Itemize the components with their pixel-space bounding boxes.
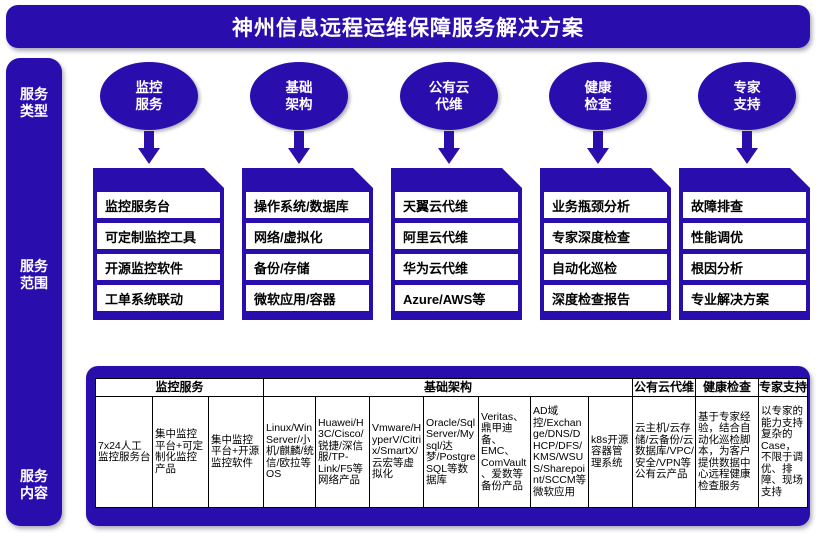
service-scope-item: 根因分析 [683,254,806,280]
service-type-ellipse-infrastructure-line2: 架构 [286,96,313,113]
sidebar-item-service-content-line1: 服务 [6,468,62,485]
table-cell: 以专家的能力支持复杂的Case，不限于调优、排障、现场支持 [759,397,808,508]
service-scope-item: 业务瓶颈分析 [544,192,667,218]
service-type-ellipse-monitoring: 监控 服务 [100,62,198,130]
table-group-header-health-check: 健康检查 [696,379,759,397]
table-row: 7x24人工监控服务台 集中监控平台+可定制化监控产品 集中监控平台+开源监控软… [96,397,808,508]
table-group-header-expert-support: 专家支持 [759,379,808,397]
service-content-table: 监控服务 基础架构 公有云代维 健康检查 专家支持 7x24人工监控服务台 集中… [95,378,808,508]
service-type-ellipse-monitoring-line2: 服务 [136,96,163,113]
page-title: 神州信息远程运维保障服务解决方案 [232,12,584,42]
page-title-banner: 神州信息远程运维保障服务解决方案 [6,5,810,48]
table-cell: 集中监控平台+可定制化监控产品 [153,397,209,508]
service-type-ellipse-expert-support-line1: 专家 [734,79,761,96]
sidebar-item-service-content: 服务 内容 [6,468,62,502]
service-type-ellipse-health-check: 健康 检查 [549,62,647,130]
table-group-header-public-cloud: 公有云代维 [633,379,696,397]
down-arrow-icon-monitoring [138,131,160,164]
sidebar-item-service-type-line1: 服务 [6,86,62,103]
table-cell: Vmware/HyperV/Citrix/SmartX/云宏等虚拟化 [370,397,424,508]
down-arrow-icon-public-cloud [438,131,460,164]
service-type-ellipse-public-cloud-line1: 公有云 [429,79,470,96]
service-type-ellipse-monitoring-line1: 监控 [136,79,163,96]
service-scope-item: 监控服务台 [97,192,220,218]
table-cell: AD域控/Exchange/DNS/DHCP/DFS/KMS/WSUS/Shar… [531,397,589,508]
service-scope-item: 故障排查 [683,192,806,218]
sidebar-item-service-scope-line2: 范围 [6,275,62,292]
service-type-ellipse-health-check-line2: 检查 [585,96,612,113]
service-type-ellipse-expert-support-line2: 支持 [734,96,761,113]
service-scope-item: 工单系统联动 [97,285,220,311]
table-group-header-monitoring: 监控服务 [96,379,264,397]
sidebar-item-service-type-line2: 类型 [6,103,62,120]
table-cell: k8s开源容器管理系统 [589,397,633,508]
service-type-ellipse-infrastructure-line1: 基础 [286,79,313,96]
category-sidebar: 服务 类型 服务 范围 服务 内容 [6,58,62,526]
down-arrow-icon-expert-support [736,131,758,164]
service-scope-item: 专业解决方案 [683,285,806,311]
table-cell: Oracle/SqlServer/Mysql/达梦/PostgreSQL等数据库 [424,397,479,508]
table-cell: 云主机/云存储/云备份/云数据库/VPC/安全/VPN等公有云产品 [633,397,696,508]
service-scope-item: 操作系统/数据库 [246,192,369,218]
sidebar-item-service-scope-line1: 服务 [6,258,62,275]
sidebar-item-service-content-line2: 内容 [6,485,62,502]
table-cell: Veritas、鼎甲迪备、EMC、ComVault、爱数等备份产品 [479,397,531,508]
service-scope-item: 网络/虚拟化 [246,223,369,249]
service-scope-item: 性能调优 [683,223,806,249]
service-scope-item: 微软应用/容器 [246,285,369,311]
table-cell: Linux/WinServer/小机/麒麟/统信/欧拉等OS [264,397,316,508]
table-cell: Huawei/H3C/Cisco/锐捷/深信服/TP-Link/F5等网络产品 [316,397,370,508]
service-type-ellipse-expert-support: 专家 支持 [698,62,796,130]
table-cell: 集中监控平台+开源监控软件 [209,397,264,508]
service-scope-item: 专家深度检查 [544,223,667,249]
service-type-ellipse-infrastructure: 基础 架构 [250,62,348,130]
table-group-header-row: 监控服务 基础架构 公有云代维 健康检查 专家支持 [96,379,808,397]
table-cell: 基于专家经验，结合自动化巡检脚本，为客户提供数据中心远程健康检查服务 [696,397,759,508]
sidebar-item-service-type: 服务 类型 [6,86,62,120]
sidebar-item-service-scope: 服务 范围 [6,258,62,292]
down-arrow-icon-health-check [587,131,609,164]
table-cell: 7x24人工监控服务台 [96,397,153,508]
service-scope-item: 开源监控软件 [97,254,220,280]
service-scope-item: Azure/AWS等 [395,285,518,311]
table-group-header-infrastructure: 基础架构 [264,379,633,397]
service-content-container: 监控服务 基础架构 公有云代维 健康检查 专家支持 7x24人工监控服务台 集中… [86,366,810,526]
service-type-ellipse-public-cloud: 公有云 代维 [400,62,498,130]
service-scope-item: 天翼云代维 [395,192,518,218]
service-type-ellipse-public-cloud-line2: 代维 [436,96,463,113]
service-scope-item: 华为云代维 [395,254,518,280]
service-scope-panel-public-cloud: 天翼云代维 阿里云代维 华为云代维 Azure/AWS等 [391,168,522,320]
service-scope-panel-expert-support: 故障排查 性能调优 根因分析 专业解决方案 [679,168,810,320]
service-scope-item: 深度检查报告 [544,285,667,311]
service-scope-panel-health-check: 业务瓶颈分析 专家深度检查 自动化巡检 深度检查报告 [540,168,671,320]
service-type-ellipse-health-check-line1: 健康 [585,79,612,96]
service-scope-panel-infrastructure: 操作系统/数据库 网络/虚拟化 备份/存储 微软应用/容器 [242,168,373,320]
service-scope-item: 自动化巡检 [544,254,667,280]
service-scope-panel-monitoring: 监控服务台 可定制监控工具 开源监控软件 工单系统联动 [93,168,224,320]
service-scope-item: 阿里云代维 [395,223,518,249]
service-scope-item: 备份/存储 [246,254,369,280]
down-arrow-icon-infrastructure [288,131,310,164]
service-scope-item: 可定制监控工具 [97,223,220,249]
